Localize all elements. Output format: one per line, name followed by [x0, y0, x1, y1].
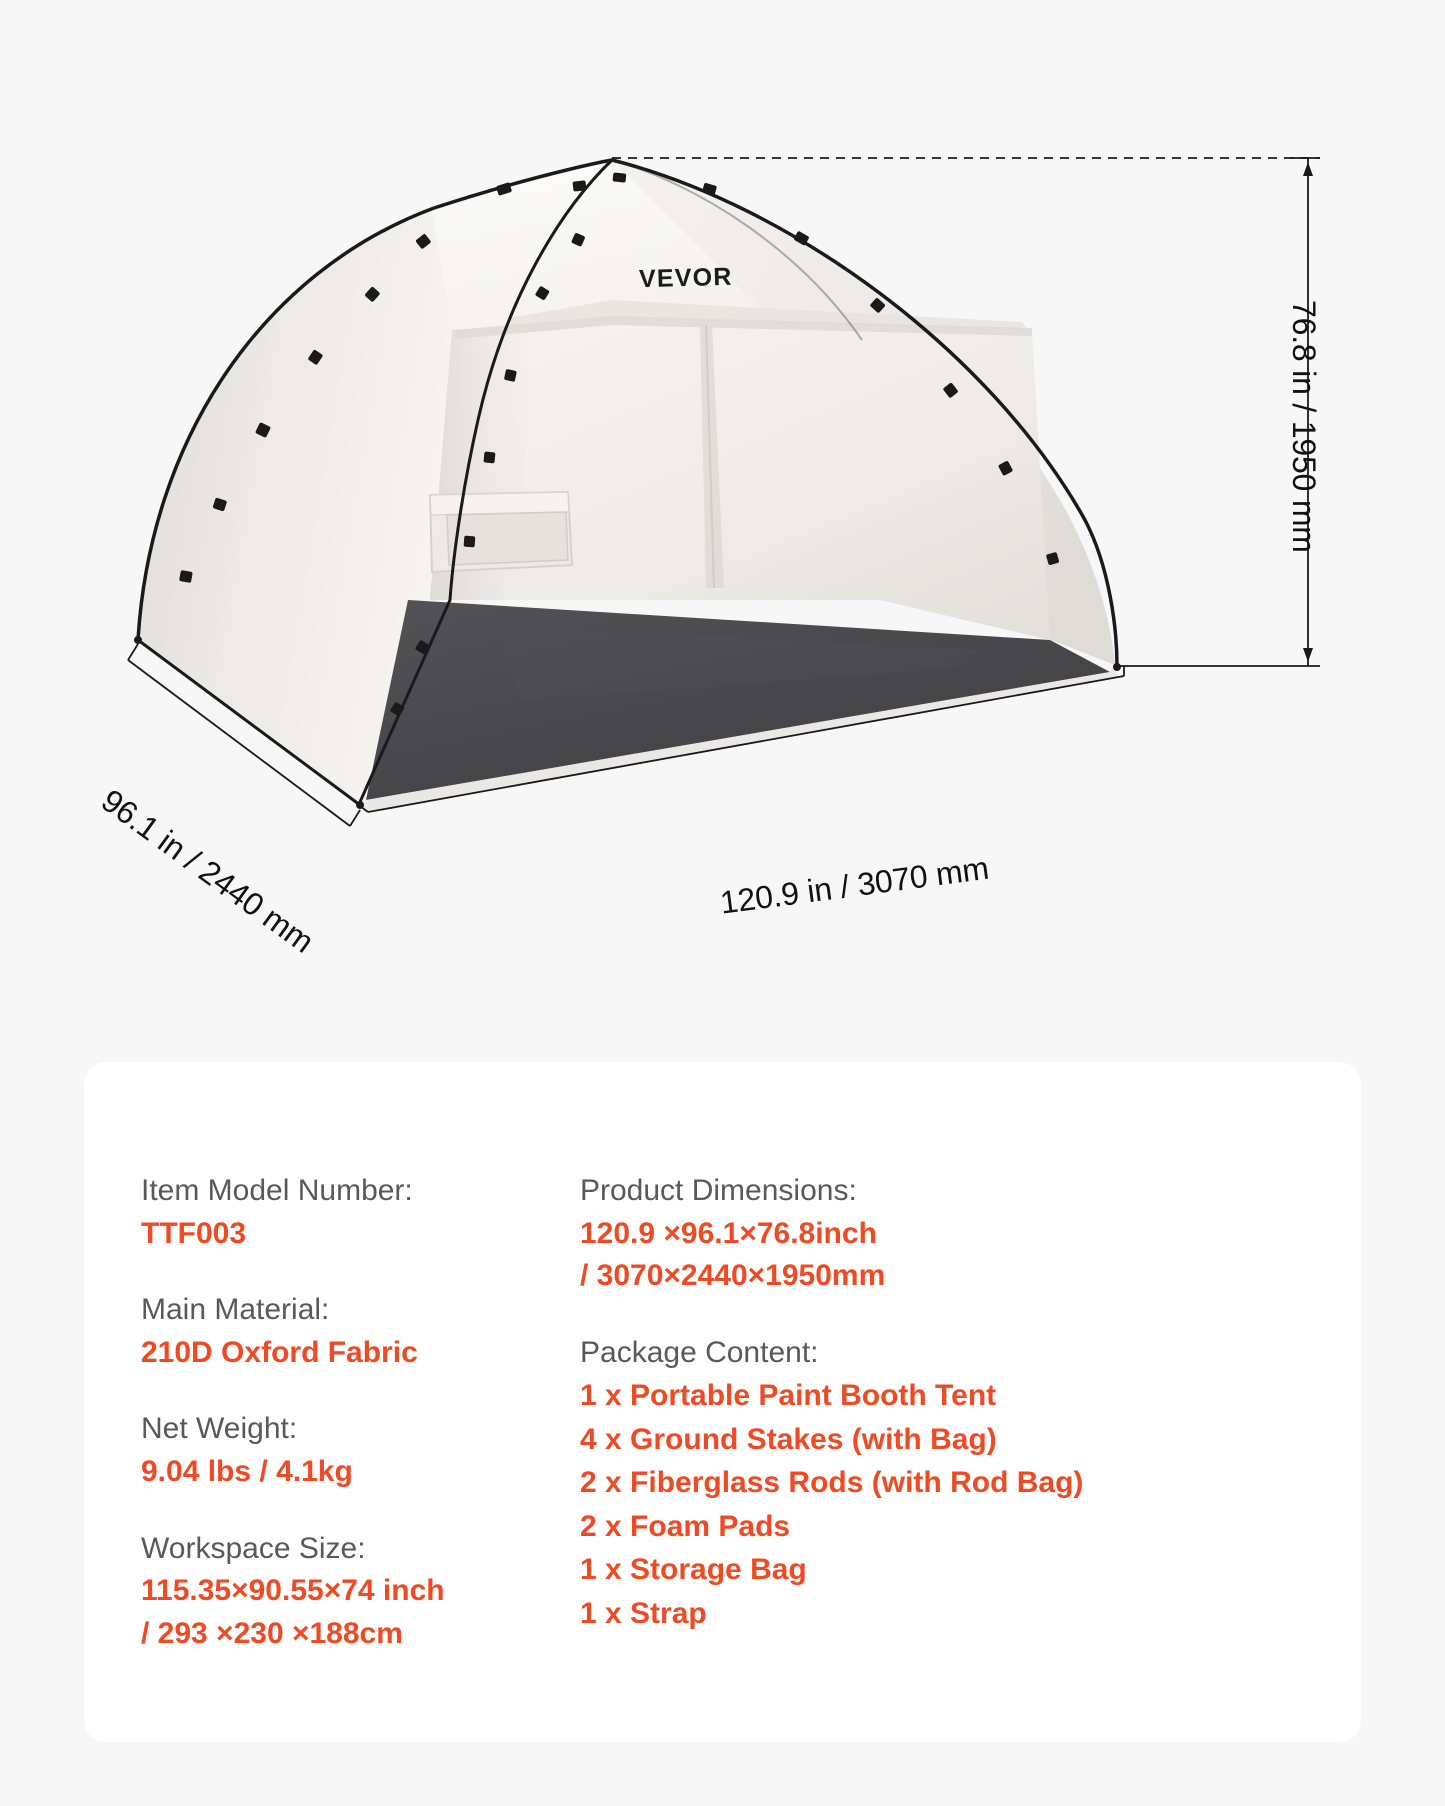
spec-value: 9.04 lbs / 4.1kg	[141, 1451, 524, 1494]
spec-value: TTF003	[141, 1213, 524, 1256]
spec-item-package-content: Package Content: 1 x Portable Paint Boot…	[580, 1332, 1224, 1636]
spec-item-product-dimensions: Product Dimensions: 120.9 ×96.1×76.8inch…	[580, 1170, 1224, 1298]
list-item: 2 x Foam Pads	[580, 1505, 1224, 1549]
spec-item-main-material: Main Material: 210D Oxford Fabric	[141, 1289, 524, 1374]
list-item: 2 x Fiberglass Rods (with Rod Bag)	[580, 1461, 1224, 1505]
spec-column-right: Product Dimensions: 120.9 ×96.1×76.8inch…	[524, 1170, 1224, 1742]
dimension-label-height: 76.8 in / 1950 mm	[1285, 300, 1322, 553]
spec-label: Package Content:	[580, 1332, 1224, 1375]
list-item: 1 x Storage Bag	[580, 1548, 1224, 1592]
spec-label: Item Model Number:	[141, 1170, 524, 1213]
specification-card: Item Model Number: TTF003 Main Material:…	[84, 1062, 1361, 1742]
spec-label: Product Dimensions:	[580, 1170, 1224, 1213]
spec-value: 210D Oxford Fabric	[141, 1332, 524, 1375]
vevor-logo: VEVOR	[639, 263, 733, 294]
spec-column-left: Item Model Number: TTF003 Main Material:…	[84, 1170, 524, 1742]
tent-floor	[366, 600, 1110, 800]
spec-item-model-number: Item Model Number: TTF003	[141, 1170, 524, 1255]
spec-label: Main Material:	[141, 1289, 524, 1332]
spec-label: Net Weight:	[141, 1408, 524, 1451]
package-content-list: 1 x Portable Paint Booth Tent 4 x Ground…	[580, 1374, 1224, 1635]
tent-mesh-window	[430, 492, 572, 572]
spec-value-line2: / 3070×2440×1950mm	[580, 1255, 1224, 1298]
spec-item-net-weight: Net Weight: 9.04 lbs / 4.1kg	[141, 1408, 524, 1493]
spec-item-workspace-size: Workspace Size: 115.35×90.55×74 inch / 2…	[141, 1528, 524, 1656]
spec-label: Workspace Size:	[141, 1528, 524, 1571]
list-item: 1 x Strap	[580, 1592, 1224, 1636]
product-dimension-diagram: VEVOR 76.8 in / 1950 mm 120.9 in / 3070 …	[0, 0, 1445, 1050]
spec-value-line2: / 293 ×230 ×188cm	[141, 1613, 524, 1656]
list-item: 4 x Ground Stakes (with Bag)	[580, 1418, 1224, 1462]
spec-value-line1: 120.9 ×96.1×76.8inch	[580, 1213, 1224, 1256]
spec-value-line1: 115.35×90.55×74 inch	[141, 1570, 524, 1613]
list-item: 1 x Portable Paint Booth Tent	[580, 1374, 1224, 1418]
